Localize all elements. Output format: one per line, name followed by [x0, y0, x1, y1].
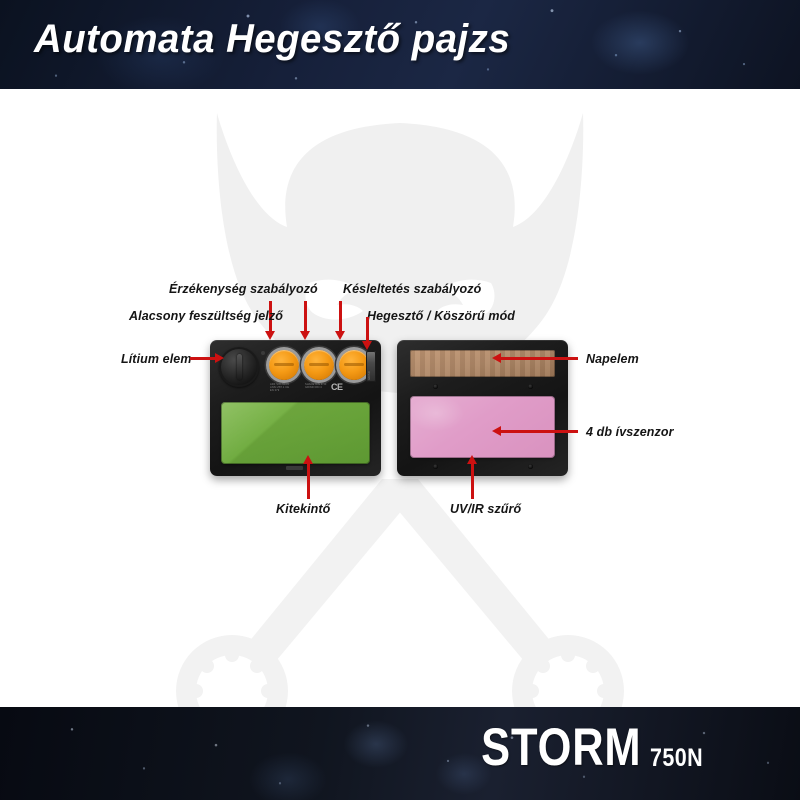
sensitivity-dial[interactable] — [269, 350, 299, 380]
low-voltage-indicator-led — [261, 351, 265, 355]
callout-arrow-arc-sensors — [492, 425, 578, 437]
front-bottom-tab — [286, 466, 303, 470]
panel-microtext-left: ADF SOLTRON ANSI Z87.1 CE EN 379 — [270, 383, 289, 393]
callout-arrow-delay — [334, 301, 346, 340]
callout-arrow-viewing-window — [302, 455, 314, 499]
callout-arrow-uv-ir-filter — [466, 455, 478, 499]
callout-label-low-voltage: Alacsony feszültség jelző — [129, 309, 283, 323]
delay-dial[interactable] — [339, 350, 369, 380]
product-diagram: ADF SOLTRON ANSI Z87.1 CE EN 379 SHADE D… — [0, 89, 800, 707]
callout-label-viewing-window: Kitekintő — [276, 502, 330, 516]
callout-label-weld-grind-mode: Hegesztő / Köszörű mód — [367, 309, 515, 323]
arc-sensor-hole — [433, 384, 438, 389]
model-number: 750N — [650, 746, 703, 774]
callout-label-uv-ir-filter: UV/IR szűrő — [450, 502, 521, 516]
callout-arrow-weld-grind-mode — [361, 317, 373, 351]
panel-microtext-switch: GRIND — [368, 371, 371, 380]
callout-label-solar-panel: Napelem — [586, 352, 639, 366]
arc-sensor-hole — [528, 464, 533, 469]
arc-sensor-hole — [528, 384, 533, 389]
front-cartridge: ADF SOLTRON ANSI Z87.1 CE EN 379 SHADE D… — [210, 340, 381, 476]
callout-arrow-lithium-battery — [190, 352, 223, 364]
callout-label-lithium-battery: Lítium elem — [121, 352, 192, 366]
callout-arrow-low-voltage — [299, 301, 311, 340]
ce-mark-icon: CE — [331, 382, 343, 392]
arc-sensor-hole — [433, 464, 438, 469]
panel-microtext-right: SHADE DIN 9-13 GRIND DIN 4 — [305, 383, 326, 389]
callout-label-sensitivity: Érzékenység szabályozó — [169, 282, 318, 296]
brand-name: STORM — [481, 721, 641, 774]
callout-label-delay: Késleltetés szabályozó — [343, 282, 481, 296]
footer-banner: STORM 750N — [0, 707, 800, 800]
page-title: Automata Hegesztő pajzs — [34, 17, 510, 62]
brand-lockup: STORM 750N — [446, 721, 712, 774]
control-panel: ADF SOLTRON ANSI Z87.1 CE EN 379 SHADE D… — [210, 340, 381, 396]
callout-arrow-solar-panel — [492, 352, 578, 364]
shade-dial[interactable] — [304, 350, 334, 380]
header-banner: Automata Hegesztő pajzs — [0, 0, 800, 89]
callout-label-arc-sensors: 4 db ívszenzor — [586, 425, 674, 439]
front-lens — [221, 402, 370, 464]
infographic-canvas: Automata Hegesztő pajzs — [0, 0, 800, 800]
battery-knob[interactable] — [219, 347, 259, 387]
